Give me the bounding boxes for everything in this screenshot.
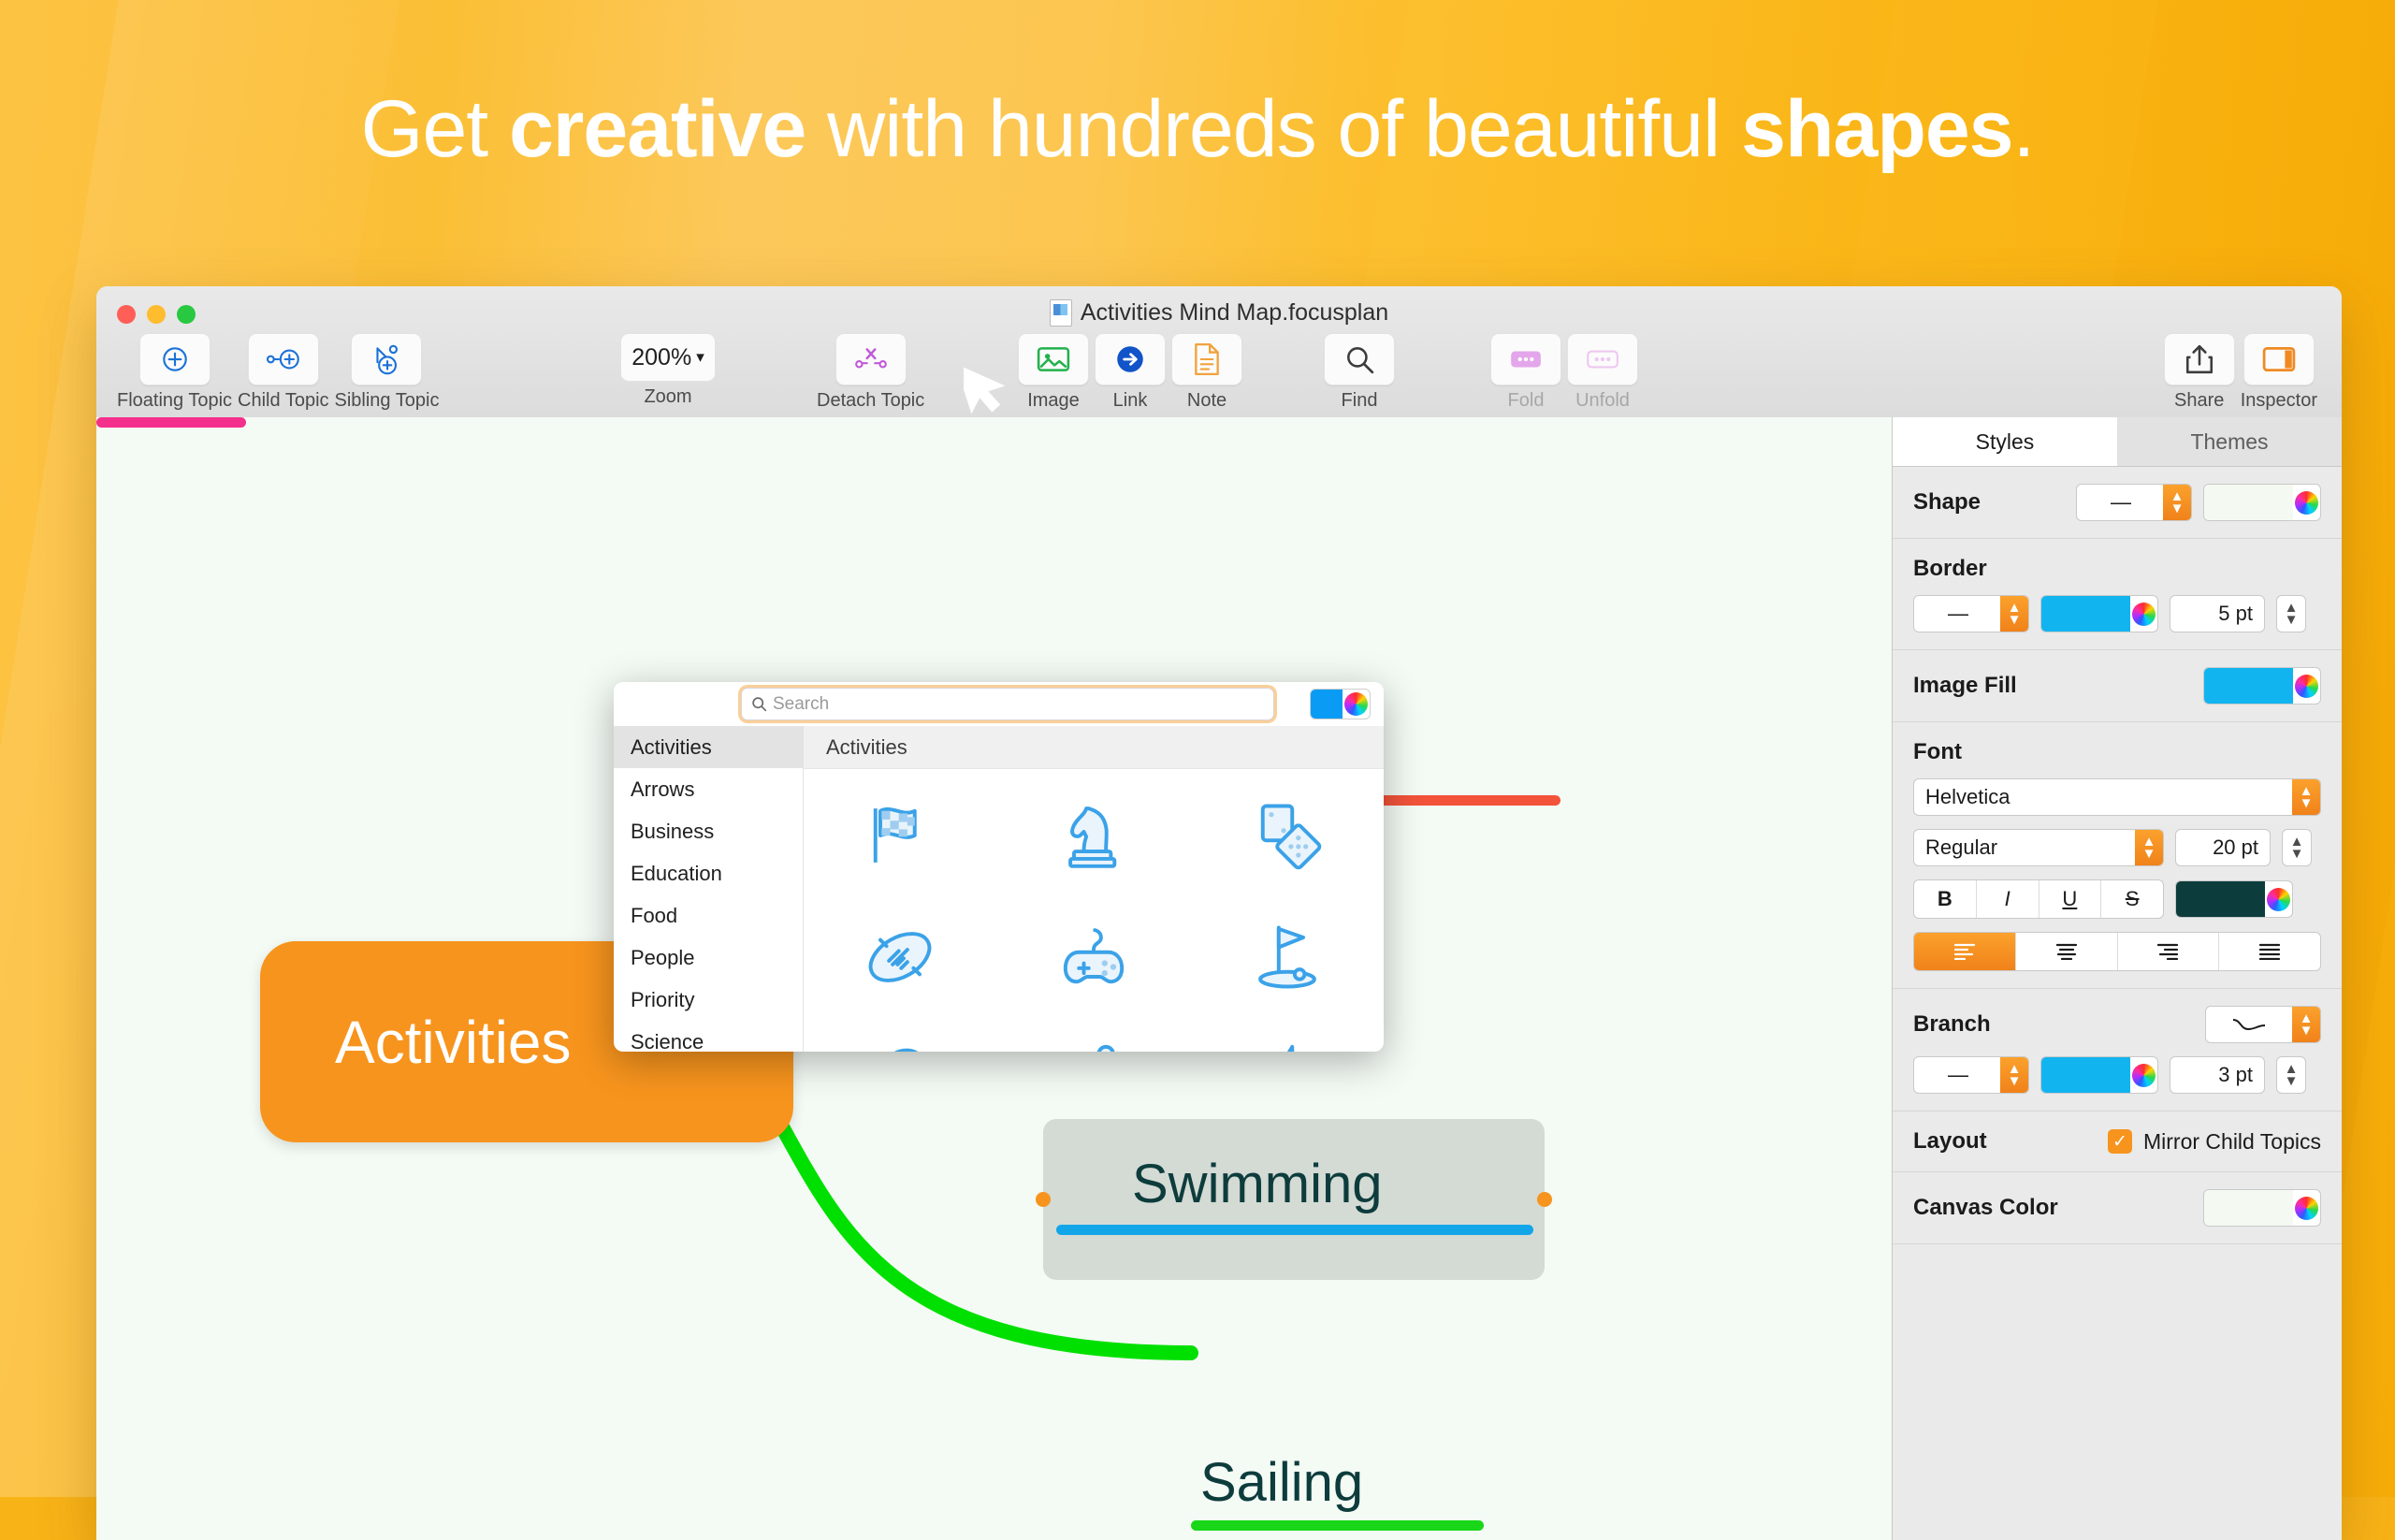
branch-shape-value — [2206, 1017, 2292, 1032]
shape-style-value: — — [2077, 490, 2163, 515]
tint-color-well[interactable] — [1310, 689, 1371, 719]
inspector-panel[interactable]: Styles Themes Shape — ▲▼ Border — [1892, 417, 2342, 1540]
dice-cards-icon[interactable] — [1190, 775, 1384, 896]
toolbar-find[interactable]: Find — [1324, 333, 1395, 412]
category-label: Food — [631, 904, 677, 928]
toolbar-detach-topic-label: Detach Topic — [817, 390, 924, 412]
note-icon[interactable] — [1171, 333, 1242, 385]
toolbar-right-group: Share Inspector — [2164, 333, 2317, 412]
popover-body: Activities Arrows Business Education Foo… — [614, 726, 1384, 1052]
color-wheel-icon[interactable] — [2267, 888, 2290, 911]
color-wheel-icon[interactable] — [2295, 491, 2318, 515]
mindmap-node-sailing-rule — [1191, 1520, 1484, 1531]
font-size-field[interactable]: 20 pt — [2175, 829, 2271, 866]
mindmap-node-swimming[interactable]: Swimming — [1043, 1119, 1545, 1280]
selection-handle-left[interactable] — [1036, 1192, 1051, 1207]
border-style-value: — — [1914, 602, 2000, 626]
toolbar-zoom-label: Zoom — [644, 386, 691, 408]
branch-width-field[interactable]: 3 pt — [2170, 1056, 2265, 1094]
category-label: Education — [631, 862, 722, 886]
toolbar-floating-topic-label: Floating Topic — [117, 390, 232, 412]
image-icon[interactable] — [1018, 333, 1089, 385]
branch-style-stepper[interactable]: — ▲▼ — [1913, 1056, 2029, 1094]
branch-color-swatch — [2041, 1057, 2130, 1093]
checkered-flag-icon[interactable] — [804, 775, 997, 896]
border-label: Border — [1913, 556, 1987, 582]
branch-color-well[interactable] — [2040, 1056, 2158, 1094]
inspector-panel-icon[interactable] — [2243, 333, 2315, 385]
unfold-icon[interactable] — [1567, 333, 1638, 385]
color-wheel-icon[interactable] — [1344, 692, 1368, 716]
category-item-business[interactable]: Business — [614, 810, 803, 852]
canvas-color-well[interactable] — [2203, 1189, 2321, 1227]
app-window: Activities Mind Map.focusplan Floating T… — [96, 286, 2342, 1540]
mindmap-root-label: Activities — [260, 1008, 572, 1077]
document-title-label: Activities Mind Map.focusplan — [1081, 299, 1388, 327]
tint-color-swatch — [1311, 690, 1343, 719]
toolbar-sibling-topic[interactable]: Sibling Topic — [335, 333, 440, 412]
italic-button[interactable]: I — [1977, 880, 2039, 918]
popover-grid-title: Activities — [804, 726, 1384, 769]
mindmap-canvas[interactable]: Activities all Swimming Sailing Search — [96, 417, 1893, 1540]
inspector-section-shape: Shape — ▲▼ — [1893, 467, 2342, 539]
toolbar-zoom-group: 200% ▾ Zoom — [620, 333, 716, 408]
toolbar-fold-label: Fold — [1508, 390, 1545, 412]
border-width-stepper[interactable]: ▲▼ — [2276, 595, 2306, 632]
category-item-activities[interactable]: Activities — [614, 726, 803, 768]
align-center-icon[interactable] — [2016, 933, 2118, 970]
font-size-stepper[interactable]: ▲▼ — [2282, 829, 2312, 866]
bold-button[interactable]: B — [1914, 880, 1977, 918]
toolbar-child-topic[interactable]: Child Topic — [238, 333, 328, 412]
category-label: Arrows — [631, 777, 694, 802]
toolbar-note[interactable]: Note — [1171, 333, 1242, 412]
inspector-section-branch: Branch ▲▼ — ▲▼ 3 pt — [1893, 989, 2342, 1111]
toolbar-link[interactable]: Link — [1095, 333, 1166, 412]
toolbar-inspector-label: Inspector — [2241, 390, 2317, 412]
align-left-icon[interactable] — [1914, 933, 2016, 970]
color-wheel-icon[interactable] — [2295, 1197, 2318, 1220]
document-icon — [1050, 299, 1072, 327]
mirror-child-topics-label: Mirror Child Topics — [2143, 1129, 2321, 1155]
inspector-section-image-fill: Image Fill — [1893, 650, 2342, 722]
toolbar-unfold[interactable]: Unfold — [1567, 333, 1638, 412]
headline-bold-2: shapes — [1741, 84, 2012, 174]
mindmap-node-sailing-label: Sailing — [1200, 1452, 1363, 1513]
font-color-swatch — [2176, 881, 2265, 917]
font-label: Font — [1913, 739, 1962, 765]
toolbar-fold-group: Fold Unfold — [1490, 333, 1638, 412]
search-icon[interactable] — [1324, 333, 1395, 385]
inspector-section-canvas-color: Canvas Color — [1893, 1172, 2342, 1244]
toolbar-floating-topic[interactable]: Floating Topic — [117, 333, 232, 412]
mindmap-node-swimming-rule — [1056, 1225, 1533, 1235]
headline-text-3: . — [2013, 84, 2035, 174]
popover-header: Search — [614, 682, 1384, 726]
toolbar-link-label: Link — [1113, 390, 1148, 412]
sibling-topic-icon[interactable] — [351, 333, 422, 385]
toolbar-find-label: Find — [1342, 390, 1378, 412]
football-icon[interactable] — [804, 896, 997, 1018]
image-fill-label: Image Fill — [1913, 673, 2017, 699]
zoom-select[interactable]: 200% ▾ — [620, 333, 716, 382]
child-topic-icon[interactable] — [248, 333, 319, 385]
popover-category-list[interactable]: Activities Arrows Business Education Foo… — [614, 726, 804, 1052]
border-style-stepper[interactable]: — ▲▼ — [1913, 595, 2029, 632]
headline-text-2: with hundreds of beautiful — [806, 84, 1741, 174]
image-fill-color-well[interactable] — [2203, 667, 2321, 705]
mindmap-node-swimming-label: Swimming — [1132, 1153, 1383, 1215]
sailboat-icon[interactable] — [1190, 1018, 1384, 1052]
inspector-section-border: Border — ▲▼ 5 pt ▲▼ — [1893, 539, 2342, 650]
align-right-icon[interactable] — [2118, 933, 2220, 970]
color-wheel-icon[interactable] — [2132, 1064, 2155, 1087]
marketing-headline: Get creative with hundreds of beautiful … — [0, 89, 2395, 169]
branch-width-stepper[interactable]: ▲▼ — [2276, 1056, 2306, 1094]
golf-flag-icon[interactable] — [1190, 896, 1384, 1018]
canvas-color-label: Canvas Color — [1913, 1195, 2058, 1221]
category-item-education[interactable]: Education — [614, 852, 803, 894]
popover-grid-panel: Activities — [804, 726, 1384, 1052]
zoom-value: 200% — [631, 344, 691, 371]
detach-topic-icon[interactable] — [835, 333, 907, 385]
chevron-down-icon: ▾ — [696, 348, 704, 367]
branch-label: Branch — [1913, 1011, 1991, 1038]
category-label: Activities — [631, 735, 712, 760]
title-bar: Activities Mind Map.focusplan Floating T… — [96, 286, 2342, 418]
category-item-food[interactable]: Food — [614, 894, 803, 937]
border-width-field[interactable]: 5 pt — [2170, 595, 2265, 632]
chess-knight-icon[interactable] — [997, 775, 1191, 896]
align-justify-icon[interactable] — [2219, 933, 2320, 970]
category-item-science[interactable]: Science — [614, 1021, 803, 1052]
toolbar-unfold-label: Unfold — [1575, 390, 1630, 412]
font-color-well[interactable] — [2175, 880, 2293, 918]
image-library-popover[interactable]: Search Activities Arrows Business Educat… — [614, 682, 1384, 1052]
font-weight-value: Regular — [1914, 835, 2135, 860]
selection-handle-right[interactable] — [1537, 1192, 1552, 1207]
shape-style-stepper[interactable]: — ▲▼ — [2076, 484, 2192, 521]
inspector-section-font: Font Helvetica ▲▼ Regular ▲▼ 20 pt ▲▼ B — [1893, 722, 2342, 989]
branch-shape-stepper[interactable]: ▲▼ — [2205, 1006, 2321, 1043]
gamepad-icon[interactable] — [997, 896, 1191, 1018]
stepper-arrows-icon[interactable]: ▲▼ — [2292, 1007, 2320, 1042]
toolbar-share[interactable]: Share — [2164, 333, 2235, 412]
toolbar-child-topic-label: Child Topic — [238, 390, 328, 412]
toolbar-zoom[interactable]: 200% ▾ Zoom — [620, 333, 716, 408]
category-item-people[interactable]: People — [614, 937, 803, 979]
stepper-arrows-icon[interactable]: ▲▼ — [2135, 830, 2163, 865]
icon-grid[interactable] — [804, 769, 1384, 1052]
canvas-color-swatch — [2204, 1190, 2293, 1226]
toolbar-detach-group: Detach Topic — [817, 333, 924, 412]
category-label: Priority — [631, 988, 694, 1012]
toolbar-inspector[interactable]: Inspector — [2241, 333, 2317, 412]
tab-styles[interactable]: Styles — [1893, 417, 2117, 466]
border-color-well[interactable] — [2040, 595, 2158, 632]
stepper-arrows-icon[interactable]: ▲▼ — [2292, 779, 2320, 815]
toolbar-insert-group: Image Link Note — [1018, 333, 1242, 412]
stepper-arrows-icon[interactable]: ▲▼ — [2000, 1057, 2028, 1093]
layout-label: Layout — [1913, 1128, 1987, 1155]
inspector-section-layout: Layout ✓ Mirror Child Topics — [1893, 1111, 2342, 1172]
search-icon — [751, 696, 767, 712]
search-input[interactable]: Search — [741, 688, 1274, 720]
shape-fill-color-well[interactable] — [2203, 484, 2321, 521]
plus-circle-icon[interactable] — [139, 333, 210, 385]
mirror-child-topics-checkbox[interactable]: ✓ — [2108, 1129, 2132, 1154]
curve-icon — [2230, 1017, 2268, 1032]
image-fill-swatch — [2204, 668, 2293, 704]
inspector-tabs[interactable]: Styles Themes — [1893, 417, 2342, 467]
toolbar-fold[interactable]: Fold — [1490, 333, 1561, 412]
font-family-select[interactable]: Helvetica ▲▼ — [1913, 778, 2321, 816]
category-label: People — [631, 946, 695, 970]
color-wheel-icon[interactable] — [2295, 675, 2318, 698]
branch-style-value: — — [1914, 1063, 2000, 1087]
category-item-arrows[interactable]: Arrows — [614, 768, 803, 810]
search-placeholder: Search — [773, 694, 829, 715]
tab-themes[interactable]: Themes — [2117, 417, 2342, 466]
share-icon[interactable] — [2164, 333, 2235, 385]
toolbar-topic-group: Floating Topic Child Topic Sibling Topic — [117, 333, 439, 412]
shape-label: Shape — [1913, 489, 1981, 516]
shape-fill-swatch — [2204, 485, 2293, 520]
toolbar-image-label: Image — [1027, 390, 1080, 412]
font-family-value: Helvetica — [1914, 785, 2292, 809]
fold-icon[interactable] — [1490, 333, 1561, 385]
font-style-segmented[interactable]: B I U S — [1913, 879, 2164, 919]
document-title: Activities Mind Map.focusplan — [96, 299, 2342, 327]
underline-button[interactable]: U — [2039, 880, 2102, 918]
runner-icon[interactable] — [997, 1018, 1191, 1052]
toolbar-find-group: Find — [1324, 333, 1395, 412]
toolbar-detach-topic[interactable]: Detach Topic — [817, 333, 924, 412]
category-item-priority[interactable]: Priority — [614, 979, 803, 1021]
toolbar-note-label: Note — [1187, 390, 1227, 412]
toolbar-image[interactable]: Image — [1018, 333, 1089, 412]
stepper-arrows-icon[interactable]: ▲▼ — [2163, 485, 2191, 520]
toolbar-sibling-topic-label: Sibling Topic — [335, 390, 440, 412]
mindmap-node-sailing[interactable]: Sailing — [1200, 1451, 1363, 1514]
strikethrough-button[interactable]: S — [2101, 880, 2163, 918]
color-wheel-icon[interactable] — [2132, 603, 2155, 626]
headline-bold-1: creative — [509, 84, 806, 174]
category-label: Science — [631, 1030, 704, 1053]
category-label: Business — [631, 820, 714, 844]
stepper-arrows-icon[interactable]: ▲▼ — [2000, 596, 2028, 632]
toolbar-share-label: Share — [2174, 390, 2224, 412]
headline-text-1: Get — [361, 84, 510, 174]
text-alignment-segmented[interactable] — [1913, 932, 2321, 971]
ping-pong-paddle-icon[interactable] — [804, 1018, 997, 1052]
link-arrow-icon[interactable] — [1095, 333, 1166, 385]
font-weight-select[interactable]: Regular ▲▼ — [1913, 829, 2164, 866]
border-color-swatch — [2041, 596, 2130, 632]
